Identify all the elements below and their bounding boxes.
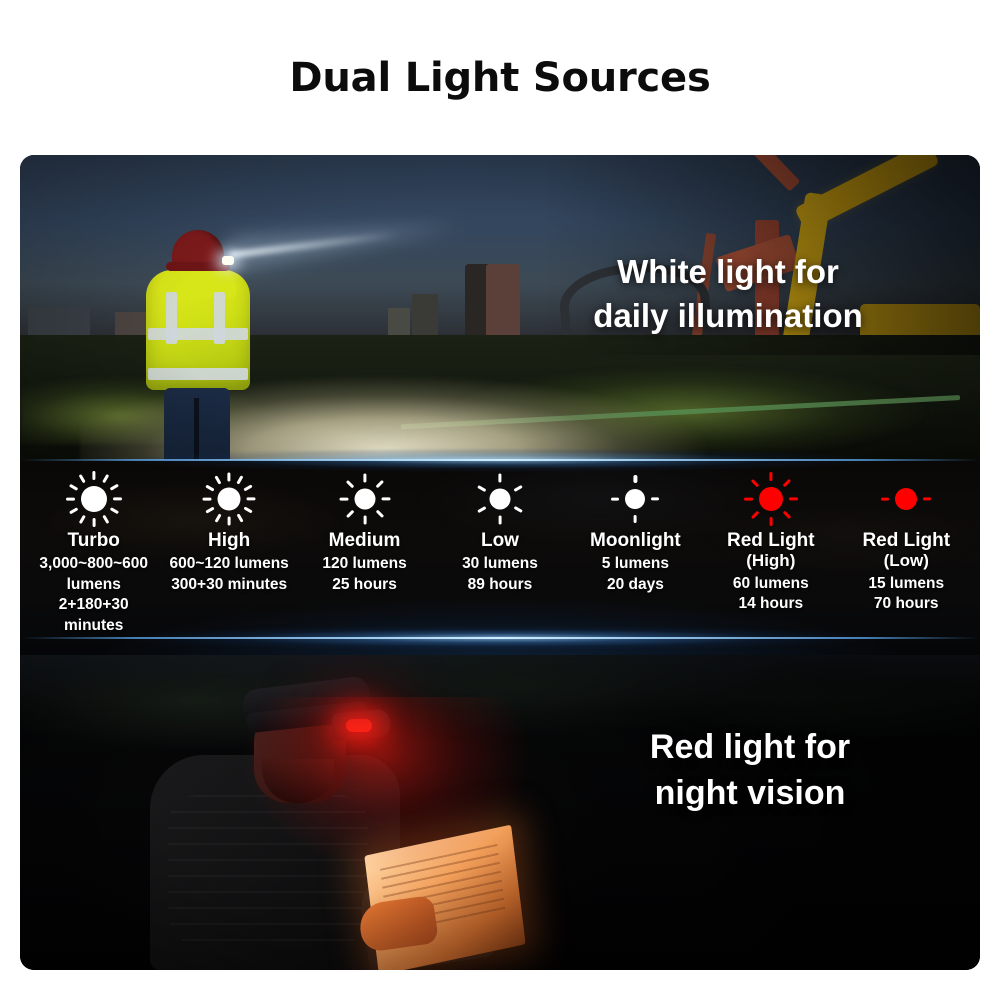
light-mode-red-light-low: Red Light(Low)15 lumens 70 hours — [839, 468, 974, 615]
reflective-stripe — [148, 328, 248, 340]
sun-ray — [345, 510, 354, 519]
sun-ray — [345, 480, 354, 489]
light-mode-medium: Medium120 lumens 25 hours — [297, 468, 432, 595]
sun-ray — [513, 485, 522, 492]
bottom-caption-line-2: night vision — [560, 771, 940, 817]
light-mode-sublabel: (Low) — [884, 551, 929, 571]
sun-ray — [782, 479, 791, 488]
sun-ray — [634, 475, 637, 483]
sun-ray — [751, 479, 760, 488]
light-mode-icon-wrap — [337, 468, 392, 530]
sun-disc — [489, 489, 510, 510]
sun-ray — [375, 480, 384, 489]
sun-icon-moonlight — [608, 472, 662, 526]
sun-icon-low — [472, 472, 527, 527]
sun-ray — [203, 497, 212, 500]
light-mode-spec: 5 lumens 20 days — [602, 554, 669, 595]
sun-ray — [789, 497, 798, 500]
silo — [486, 264, 520, 338]
reflective-stripe — [148, 368, 248, 380]
sun-icon-red-low — [878, 471, 934, 527]
sun-ray — [92, 518, 95, 527]
sun-ray — [228, 473, 231, 482]
page-title: Dual Light Sources — [0, 55, 1000, 101]
sun-ray — [634, 515, 637, 523]
sun-ray — [744, 497, 753, 500]
construction-worker — [138, 230, 256, 460]
sun-ray — [78, 515, 85, 524]
sun-ray — [78, 474, 85, 483]
light-mode-high: High600~120 lumens 300+30 minutes — [161, 468, 296, 595]
light-mode-low: Low30 lumens 89 hours — [432, 468, 567, 595]
light-mode-spec: 120 lumens 25 hours — [322, 554, 406, 595]
sun-ray — [236, 475, 243, 484]
sun-ray — [769, 517, 772, 526]
sun-icon-red-high — [742, 470, 800, 528]
sun-ray — [236, 513, 243, 522]
sun-ray — [243, 506, 252, 513]
light-mode-name: Turbo — [68, 530, 120, 551]
light-mode-icon-wrap — [742, 468, 800, 530]
sun-ray — [363, 516, 366, 525]
sun-ray — [247, 497, 256, 500]
sun-ray — [92, 471, 95, 480]
light-modes-strip: Turbo3,000~800~600 lumens 2+180+30 minut… — [20, 460, 980, 655]
bottom-caption-line-1: Red light for — [560, 725, 940, 771]
light-mode-icon-wrap — [201, 468, 258, 530]
sun-ray — [881, 497, 889, 500]
light-mode-red-light-high: Red Light(High)60 lumens 14 hours — [703, 468, 838, 615]
sun-ray — [611, 497, 619, 500]
light-mode-spec: 60 lumens 14 hours — [733, 574, 809, 615]
sun-ray — [69, 484, 78, 491]
sun-icon-medium — [337, 472, 392, 527]
sun-ray — [243, 484, 252, 491]
sun-ray — [923, 497, 931, 500]
sun-ray — [375, 510, 384, 519]
light-mode-moonlight: Moonlight5 lumens 20 days — [568, 468, 703, 595]
red-led-icon — [346, 719, 372, 732]
sun-disc — [354, 489, 375, 510]
light-mode-icon-wrap — [472, 468, 527, 530]
light-mode-name: Low — [481, 530, 519, 551]
sun-ray — [477, 485, 486, 492]
sun-disc — [81, 486, 107, 512]
sun-ray — [102, 515, 109, 524]
sun-ray — [69, 507, 78, 514]
sun-ray — [339, 497, 348, 500]
light-mode-name: Red Light — [862, 530, 950, 551]
light-mode-sublabel: (High) — [746, 551, 795, 571]
sun-ray — [498, 516, 501, 525]
light-mode-name: Moonlight — [590, 530, 681, 551]
light-modes-row: Turbo3,000~800~600 lumens 2+180+30 minut… — [20, 460, 980, 655]
top-photo-caption: White light for daily illumination — [528, 250, 928, 337]
sun-ray — [214, 513, 221, 522]
light-mode-name: High — [208, 530, 250, 551]
sun-disc — [218, 488, 241, 511]
sun-ray — [113, 497, 122, 500]
bottom-photo-caption: Red light for night vision — [560, 725, 940, 817]
sun-ray — [214, 475, 221, 484]
light-mode-name: Medium — [329, 530, 401, 551]
sun-ray — [205, 484, 214, 491]
light-mode-name: Red Light — [727, 530, 815, 551]
sun-ray — [769, 472, 772, 481]
sun-ray — [109, 484, 118, 491]
light-mode-spec: 3,000~800~600 lumens 2+180+30 minutes — [28, 554, 159, 636]
top-caption-line-2: daily illumination — [528, 294, 928, 338]
top-caption-line-1: White light for — [528, 250, 928, 294]
sun-icon-high — [201, 471, 258, 528]
light-mode-icon-wrap — [64, 468, 124, 530]
sun-ray — [228, 517, 231, 526]
light-mode-icon-wrap — [608, 468, 662, 530]
sun-ray — [205, 506, 214, 513]
sun-disc — [625, 489, 645, 509]
man-with-headlamp — [150, 677, 480, 970]
sun-ray — [102, 474, 109, 483]
light-mode-spec: 15 lumens 70 hours — [868, 574, 944, 615]
light-mode-spec: 30 lumens 89 hours — [462, 554, 538, 595]
light-mode-spec: 600~120 lumens 300+30 minutes — [169, 554, 288, 595]
sun-ray — [751, 511, 760, 520]
top-photo-night-construction-site: White light for daily illumination — [20, 155, 980, 460]
sun-disc — [759, 487, 783, 511]
hard-hat-brim — [166, 262, 230, 271]
sun-ray — [363, 474, 366, 483]
product-feature-page: Dual Light Sources — [0, 0, 1000, 1000]
sun-ray — [498, 474, 501, 483]
sun-ray — [381, 497, 390, 500]
sun-ray — [66, 497, 75, 500]
worker-legs — [164, 388, 230, 460]
sun-ray — [477, 506, 486, 513]
headlamp-icon — [222, 256, 234, 265]
light-mode-turbo: Turbo3,000~800~600 lumens 2+180+30 minut… — [26, 468, 161, 636]
sun-icon-turbo — [64, 469, 124, 529]
sun-ray — [513, 506, 522, 513]
media-panel: White light for daily illumination Turbo… — [20, 155, 980, 970]
sun-disc — [895, 488, 917, 510]
sun-ray — [651, 497, 659, 500]
light-mode-icon-wrap — [878, 468, 934, 530]
sun-ray — [109, 507, 118, 514]
sun-ray — [782, 511, 791, 520]
